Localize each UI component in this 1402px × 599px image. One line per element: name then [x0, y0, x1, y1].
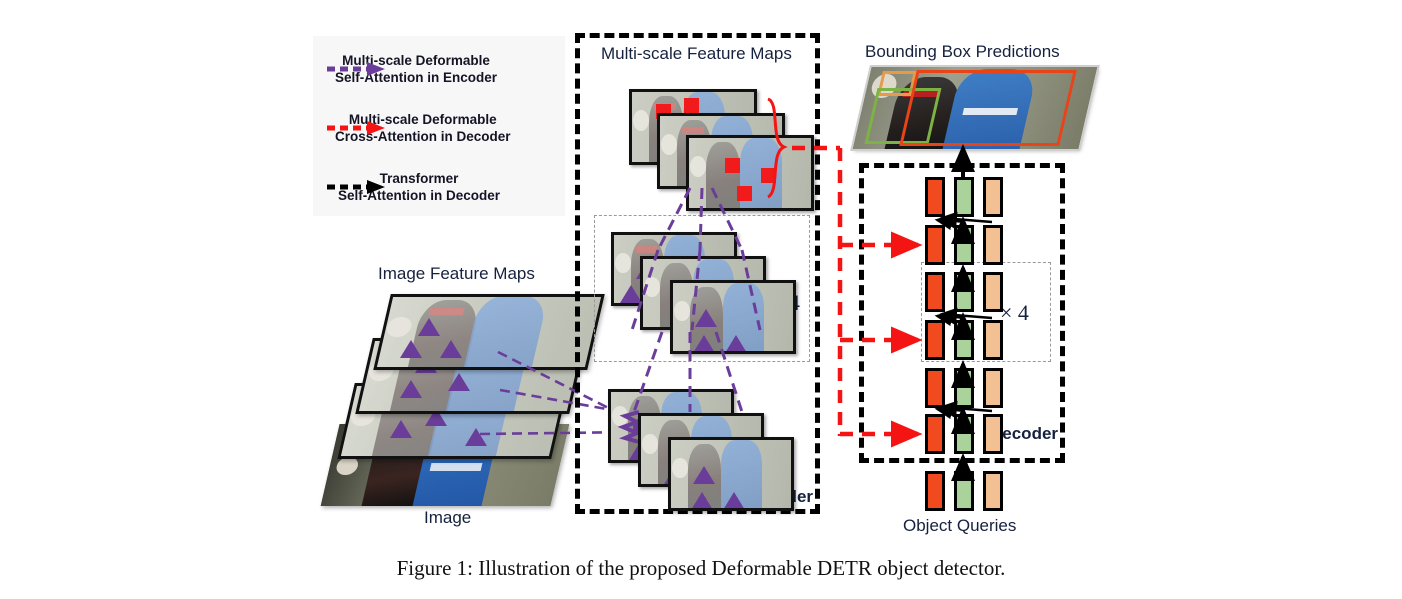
figure-caption: Figure 1: Illustration of the proposed D… — [0, 556, 1402, 581]
cross-attention-connectors — [0, 0, 1402, 599]
